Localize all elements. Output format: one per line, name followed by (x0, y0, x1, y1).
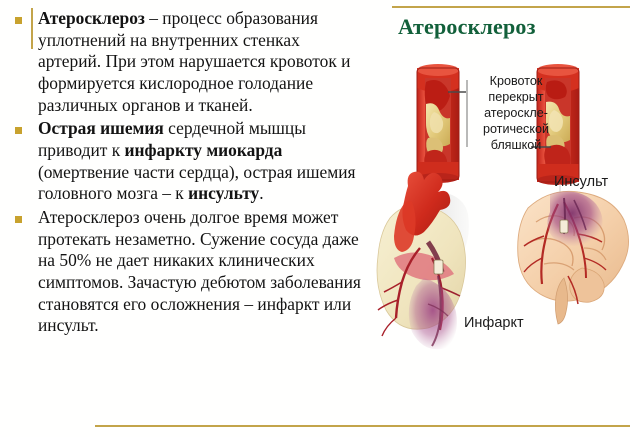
bullet-item-atherosclerosis-definition: Атеросклероз – процесс образования уплот… (0, 8, 372, 116)
atherosclerosis-illustration: Кровоток перекрыт атероскле-ротической б… (368, 52, 630, 382)
bottom-gold-rule (95, 425, 630, 427)
bullet-item-asymptomatic-course: Атеросклероз очень долгое время может пр… (0, 207, 372, 337)
bullet-acute-ischemia-run-2: инфаркту миокарда (125, 140, 283, 160)
bullet-item-acute-ischemia: Острая ишемия сердечной мышцы приводит к… (0, 118, 372, 205)
bullet-acute-ischemia-run-4: инсульту (188, 183, 259, 203)
bullet-acute-ischemia-run-5: . (259, 183, 263, 203)
plaque-callout-text: Кровоток перекрыт атероскле-ротической б… (469, 74, 563, 154)
top-gold-rule (392, 6, 630, 8)
bullet-text: Атеросклероз очень долгое время может пр… (38, 207, 366, 337)
brain-illustration (518, 191, 629, 324)
bullet-text: Острая ишемия сердечной мышцы приводит к… (38, 118, 366, 205)
slide-root: Атеросклероз Атеросклероз – процесс обра… (0, 0, 630, 437)
occlusion-marker-heart (434, 260, 443, 274)
heart-illustration (377, 172, 469, 350)
bullet-atherosclerosis-definition-run-0: Атеросклероз (38, 8, 145, 28)
bullet-list: Атеросклероз – процесс образования уплот… (0, 8, 372, 339)
bullet-square-icon (15, 216, 22, 223)
label-infarct: Инфаркт (464, 315, 524, 331)
bullet-square-icon (15, 17, 22, 24)
occlusion-marker-brain (560, 220, 568, 233)
bullet-text: Атеросклероз – процесс образования уплот… (38, 8, 366, 116)
bullet-asymptomatic-course-run-0: Атеросклероз очень долгое время может пр… (38, 207, 361, 335)
bullet-square-icon (15, 127, 22, 134)
artery-cross-section-left (415, 64, 461, 183)
bullet-acute-ischemia-run-0: Острая ишемия (38, 118, 164, 138)
page-title: Атеросклероз (398, 14, 536, 40)
label-stroke: Инсульт (554, 174, 608, 190)
